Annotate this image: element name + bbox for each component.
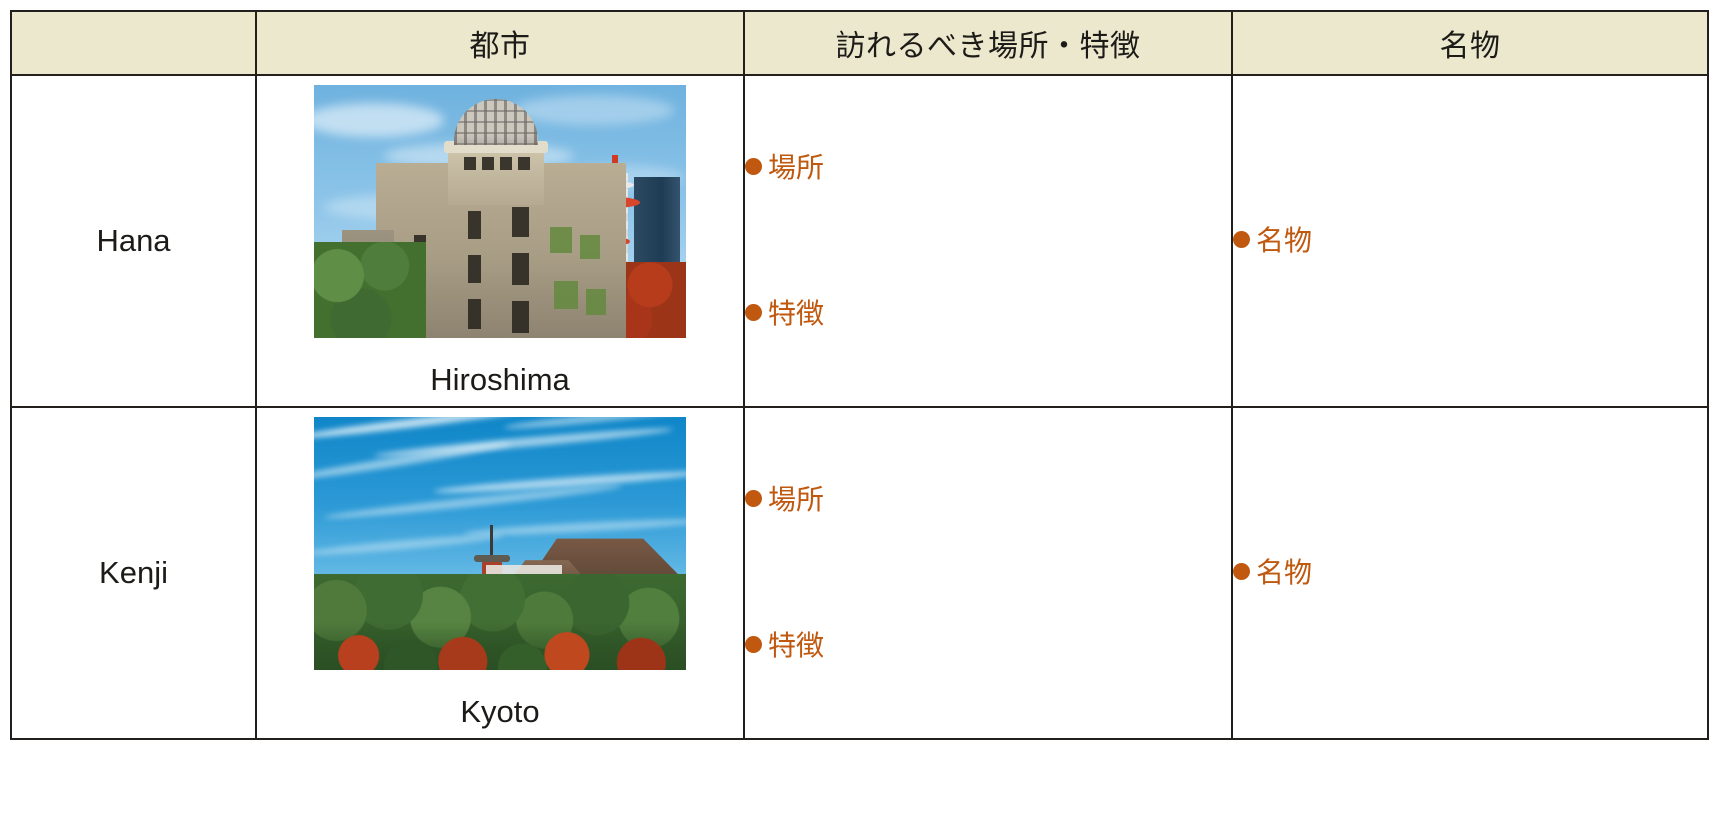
place-feature-cell-hana: 場所 特徴: [744, 75, 1232, 407]
table-row: Hana: [11, 75, 1708, 407]
kyoto-kiyomizudera-temple-photo: [314, 417, 686, 670]
bullet-dot-icon: [745, 158, 762, 175]
header-city: 都市: [256, 11, 744, 75]
bullet-dot-icon: [1233, 563, 1250, 580]
city-caption-hiroshima: Hiroshima: [257, 362, 743, 398]
bullet-place: 場所: [745, 486, 1231, 514]
bullet-label: 場所: [768, 484, 824, 515]
bullet-feature: 特徴: [745, 300, 1231, 328]
person-name-label: Kenji: [99, 555, 168, 590]
worksheet-page: 都市 訪れるべき場所・特徴 名物 Hana: [0, 0, 1719, 830]
person-name-cell-kenji: Kenji: [11, 407, 256, 739]
header-specialty: 名物: [1232, 11, 1708, 75]
person-name-label: Hana: [96, 223, 170, 258]
bullet-label: 特徴: [768, 630, 824, 661]
bullet-dot-icon: [745, 636, 762, 653]
header-place-feature: 訪れるべき場所・特徴: [744, 11, 1232, 75]
bullet-dot-icon: [745, 490, 762, 507]
bullet-feature: 特徴: [745, 632, 1231, 660]
person-name-cell-hana: Hana: [11, 75, 256, 407]
city-cell-kyoto: Kyoto: [256, 407, 744, 739]
bullet-label: 名物: [1256, 225, 1312, 256]
bullet-label: 場所: [768, 152, 824, 183]
bullet-place: 場所: [745, 154, 1231, 182]
bullet-label: 特徴: [768, 298, 824, 329]
city-cell-hiroshima: Hiroshima: [256, 75, 744, 407]
place-feature-cell-kenji: 場所 特徴: [744, 407, 1232, 739]
bullet-specialty: 名物: [1233, 559, 1707, 587]
bullet-specialty: 名物: [1233, 227, 1707, 255]
specialty-cell-hana: 名物: [1232, 75, 1708, 407]
specialty-cell-kenji: 名物: [1232, 407, 1708, 739]
hiroshima-atomic-bomb-dome-photo: [314, 85, 686, 338]
table-header-row: 都市 訪れるべき場所・特徴 名物: [11, 11, 1708, 75]
city-caption-kyoto: Kyoto: [257, 694, 743, 730]
header-blank: [11, 11, 256, 75]
table-row: Kenji: [11, 407, 1708, 739]
travel-plan-table: 都市 訪れるべき場所・特徴 名物 Hana: [10, 10, 1709, 740]
bullet-label: 名物: [1256, 557, 1312, 588]
bullet-dot-icon: [745, 304, 762, 321]
bullet-dot-icon: [1233, 231, 1250, 248]
